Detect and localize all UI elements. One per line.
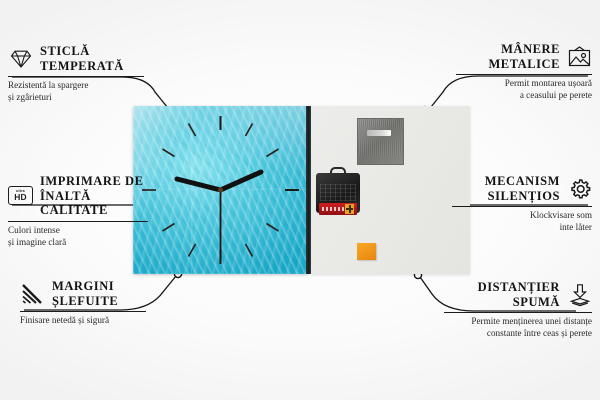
callout-subtitle: Rezistentă la spargere și zgârieturi (8, 80, 144, 104)
callout-divider (20, 311, 146, 312)
callout-distantier-spuma: DISTANȚIER SPUMĂ Permite menținerea unei… (444, 280, 592, 340)
callout-margini-slefuite: MARGINI ȘLEFUITE Finisare netedă și sigu… (20, 279, 146, 327)
mechanism-grid (320, 184, 356, 201)
callout-title: MÂNERE METALICE (488, 42, 560, 71)
callout-subtitle: Permite menținerea unei distanțe constan… (444, 316, 592, 340)
callout-title: MARGINI ȘLEFUITE (52, 279, 118, 308)
clock-mechanism (316, 167, 360, 213)
callout-mecanism-silentios: MECANISM SILENȚIOS Klockvisare som inte … (452, 174, 592, 234)
picture-hanger-icon (567, 44, 592, 69)
ultra-hd-icon-main-text: HD (14, 193, 27, 201)
polished-edges-icon (20, 281, 45, 306)
callout-title: DISTANȚIER SPUMĂ (478, 280, 560, 309)
clock-back-panel (311, 106, 470, 274)
callout-divider (444, 312, 592, 313)
foam-spacer-icon (567, 282, 592, 307)
callout-divider (8, 76, 144, 77)
mechanism-body (316, 173, 360, 213)
clock-dial (133, 106, 308, 274)
callout-subtitle: Culori intense și imagine clară (8, 225, 148, 249)
callout-title: MECANISM SILENȚIOS (485, 174, 560, 203)
battery (319, 203, 357, 215)
callout-subtitle: Permit montarea ușoară a ceasului pe per… (456, 78, 592, 102)
foam-spacer (357, 243, 376, 260)
product-image (133, 106, 470, 274)
callout-manere-metalice: MÂNERE METALICE Permit montarea ușoară a… (456, 42, 592, 102)
infographic-stage: STICLĂ TEMPERATĂ Rezistentă la spargere … (0, 0, 600, 400)
hanger-slot (367, 130, 391, 136)
callout-title: IMPRIMARE DE ÎNALTĂ CALITATE (40, 174, 148, 218)
callout-sticla-temperata: STICLĂ TEMPERATĂ Rezistentă la spargere … (8, 44, 144, 104)
ultra-hd-icon: ultra HD (8, 183, 33, 208)
callout-title: STICLĂ TEMPERATĂ (40, 44, 124, 73)
callout-subtitle: Klockvisare som inte låter (452, 210, 592, 234)
metal-hanger (357, 118, 404, 165)
gear-icon (567, 176, 592, 201)
callout-divider (452, 206, 592, 207)
diamond-icon (8, 46, 33, 71)
callout-divider (456, 74, 592, 75)
battery-plus-terminal (345, 204, 354, 214)
callout-divider (8, 221, 148, 222)
callout-subtitle: Finisare netedă și sigură (20, 315, 146, 327)
callout-imprimare-hd: ultra HD IMPRIMARE DE ÎNALTĂ CALITATE Cu… (8, 174, 148, 248)
